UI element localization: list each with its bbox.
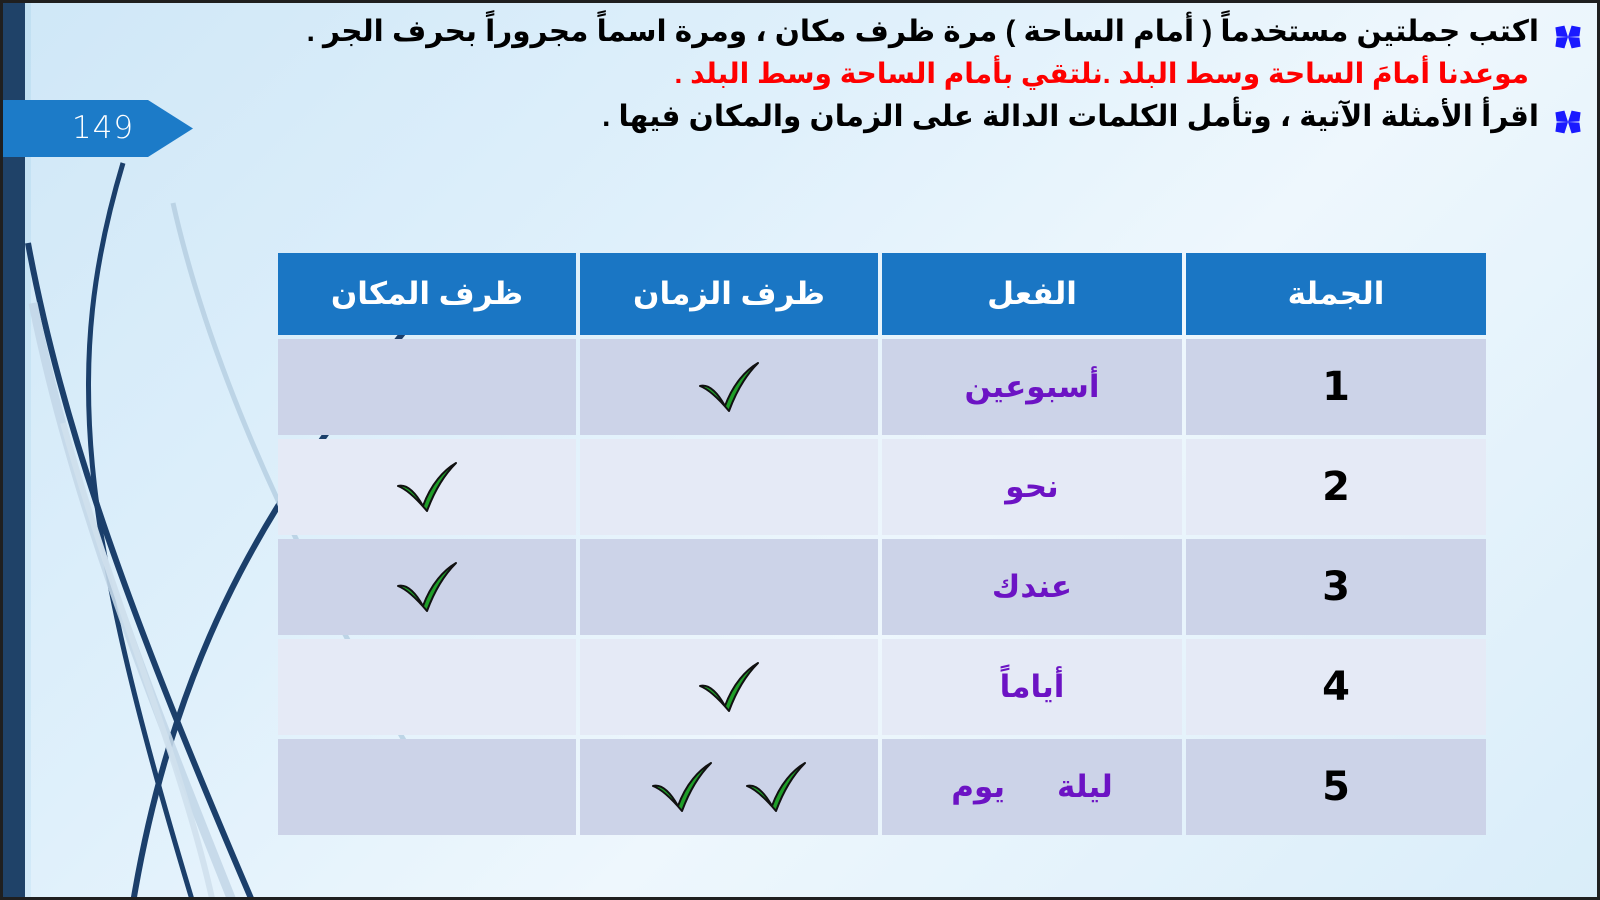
cell-sentence-number: 4 bbox=[1186, 639, 1486, 735]
content-lines: اكتب جملتين مستخدماً ( أمام الساحة ) مرة… bbox=[0, 3, 1597, 139]
cell-time-adverb bbox=[580, 439, 878, 535]
cell-place-adverb bbox=[278, 339, 576, 435]
table-header-row: الجملة الفعل ظرف الزمان ظرف المكان bbox=[278, 253, 1486, 335]
cell-verb-word: أسبوعين bbox=[882, 339, 1182, 435]
header-place-adverb: ظرف المكان bbox=[278, 253, 576, 335]
check-group bbox=[278, 460, 576, 514]
table-row: 2نحو bbox=[278, 439, 1486, 535]
cell-time-adverb bbox=[580, 739, 878, 835]
verb-word-label: نحو bbox=[1005, 469, 1058, 504]
instruction-line-2: اقرأ الأمثلة الآتية ، وتأمل الكلمات الدا… bbox=[0, 96, 1597, 139]
examples-table-wrapper: الجملة الفعل ظرف الزمان ظرف المكان 1أسبو… bbox=[286, 249, 1490, 839]
check-mark-icon bbox=[696, 660, 762, 714]
check-mark-icon bbox=[649, 760, 715, 814]
verb-word-label: أسبوعين bbox=[965, 369, 1100, 404]
sentence-number-label: 5 bbox=[1322, 764, 1350, 810]
cell-place-adverb bbox=[278, 639, 576, 735]
verb-word-secondary: يوم bbox=[951, 769, 1005, 804]
header-verb: الفعل bbox=[882, 253, 1182, 335]
check-mark-icon bbox=[394, 460, 460, 514]
table-row: 1أسبوعين bbox=[278, 339, 1486, 435]
slide-canvas: 149 اكتب جملتين مستخدماً ( أمام الساحة )… bbox=[0, 0, 1600, 900]
table-row: 3عندك bbox=[278, 539, 1486, 635]
verb-word-primary: ليلة bbox=[1057, 769, 1113, 804]
check-mark-icon bbox=[743, 760, 809, 814]
cell-sentence-number: 5 bbox=[1186, 739, 1486, 835]
sentence-number-label: 1 bbox=[1322, 364, 1350, 410]
check-mark-icon bbox=[394, 560, 460, 614]
verb-word-label: أياماً bbox=[1000, 669, 1065, 704]
cell-time-adverb bbox=[580, 339, 878, 435]
cell-verb-word: أياماً bbox=[882, 639, 1182, 735]
check-group bbox=[580, 360, 878, 414]
cell-sentence-number: 3 bbox=[1186, 539, 1486, 635]
check-group bbox=[580, 660, 878, 714]
star-bullet-icon bbox=[1553, 107, 1583, 137]
examples-table: الجملة الفعل ظرف الزمان ظرف المكان 1أسبو… bbox=[274, 249, 1490, 839]
instruction-text-1: اكتب جملتين مستخدماً ( أمام الساحة ) مرة… bbox=[307, 11, 1539, 54]
cell-place-adverb bbox=[278, 739, 576, 835]
table-row: 5ليلةيوم bbox=[278, 739, 1486, 835]
verb-word-label: ليلةيوم bbox=[951, 769, 1113, 804]
cell-time-adverb bbox=[580, 639, 878, 735]
instruction-line-1: اكتب جملتين مستخدماً ( أمام الساحة ) مرة… bbox=[0, 11, 1597, 54]
cell-sentence-number: 1 bbox=[1186, 339, 1486, 435]
header-time-adverb: ظرف الزمان bbox=[580, 253, 878, 335]
check-group bbox=[278, 560, 576, 614]
sentence-number-label: 2 bbox=[1322, 464, 1350, 510]
cell-verb-word: عندك bbox=[882, 539, 1182, 635]
cell-place-adverb bbox=[278, 539, 576, 635]
answer-text-red: موعدنا أمامَ الساحة وسط البلد .نلتقي بأم… bbox=[675, 54, 1529, 95]
cell-time-adverb bbox=[580, 539, 878, 635]
cell-place-adverb bbox=[278, 439, 576, 535]
star-bullet-icon bbox=[1553, 22, 1583, 52]
answer-line-red: موعدنا أمامَ الساحة وسط البلد .نلتقي بأم… bbox=[0, 54, 1597, 95]
verb-word-label: عندك bbox=[992, 569, 1072, 604]
check-mark-icon bbox=[696, 360, 762, 414]
table-row: 4أياماً bbox=[278, 639, 1486, 735]
cell-sentence-number: 2 bbox=[1186, 439, 1486, 535]
cell-verb-word: ليلةيوم bbox=[882, 739, 1182, 835]
table-body: 1أسبوعين2نحو3عندك4أياماً5ليلةيوم bbox=[278, 339, 1486, 835]
cell-verb-word: نحو bbox=[882, 439, 1182, 535]
sentence-number-label: 3 bbox=[1322, 564, 1350, 610]
header-sentence: الجملة bbox=[1186, 253, 1486, 335]
sentence-number-label: 4 bbox=[1322, 664, 1350, 710]
instruction-text-2: اقرأ الأمثلة الآتية ، وتأمل الكلمات الدا… bbox=[602, 96, 1539, 139]
check-group bbox=[580, 760, 878, 814]
